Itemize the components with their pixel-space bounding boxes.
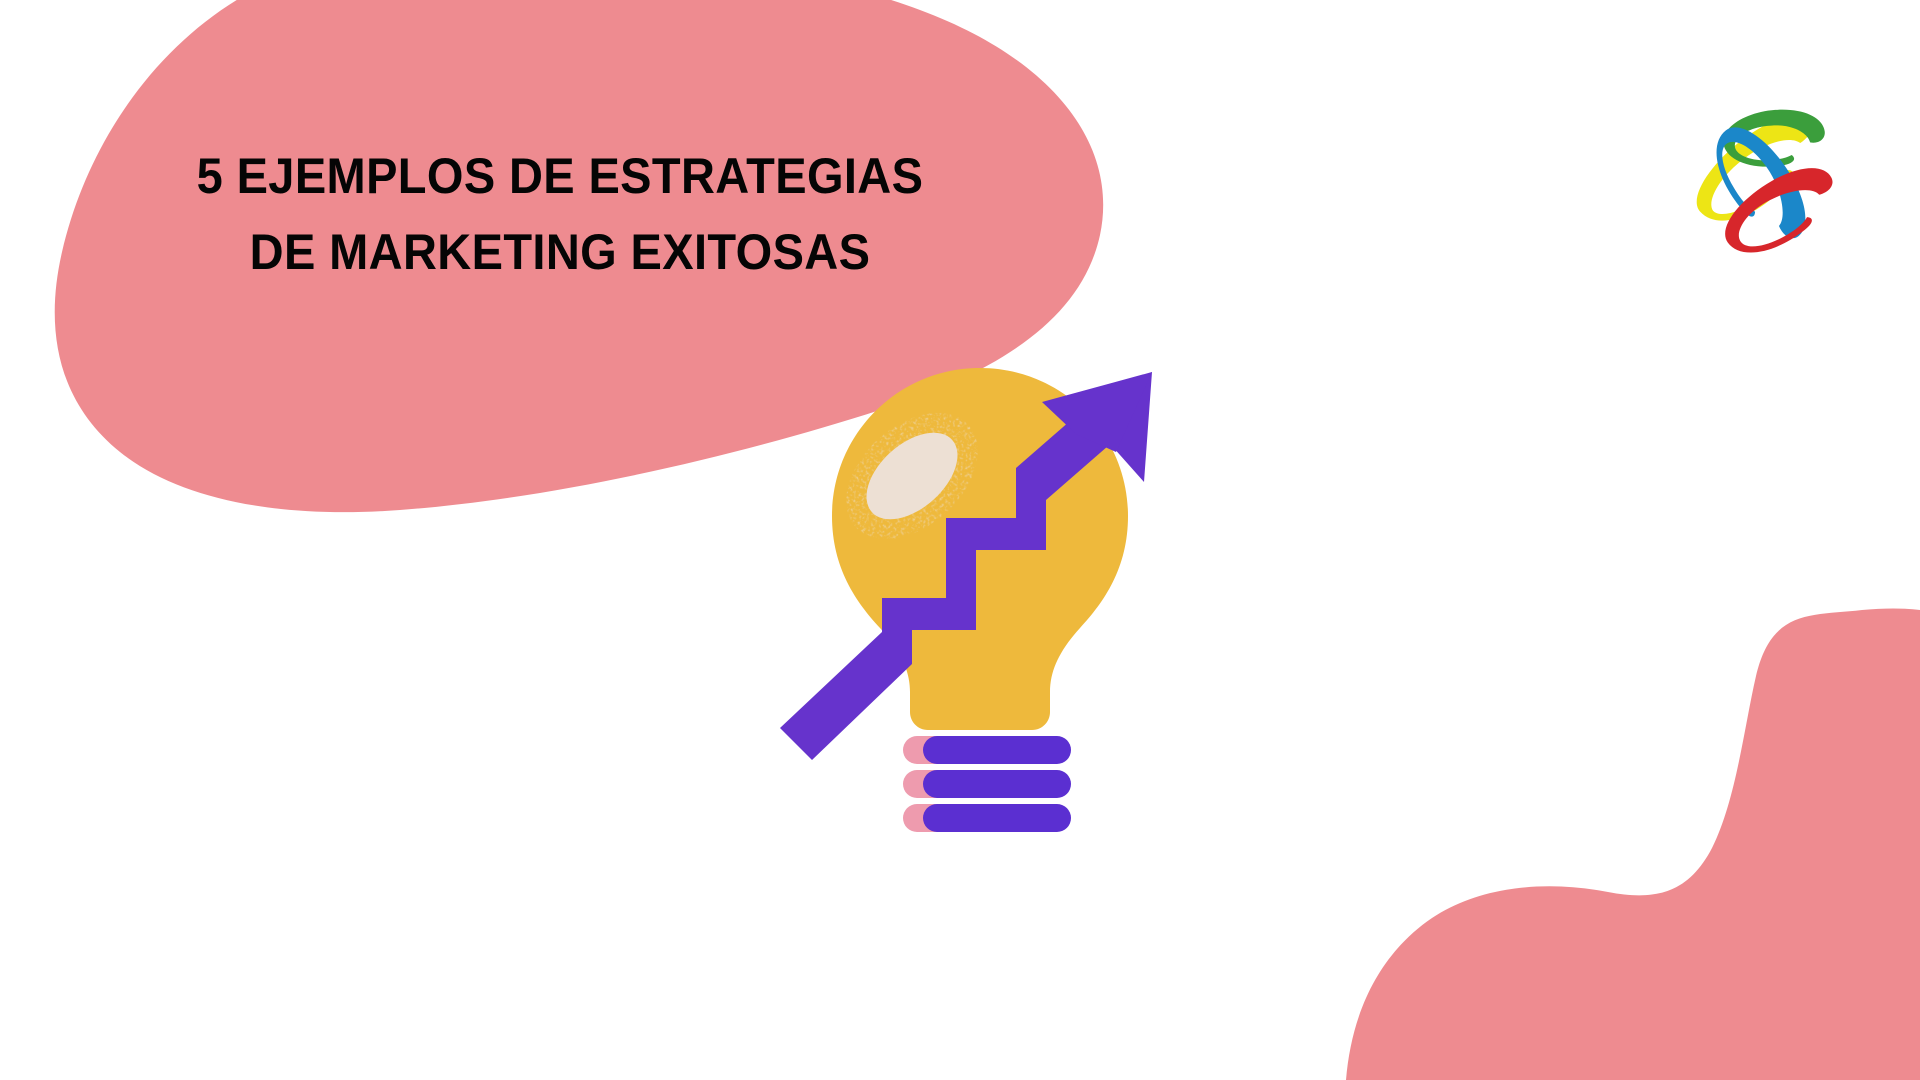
lightbulb-illustration [760, 340, 1200, 880]
pink-wave-blob-bottom-right [1346, 609, 1920, 1080]
brand-logo [1652, 62, 1862, 272]
page-title: 5 EJEMPLOS DE ESTRATEGIAS DE MARKETING E… [130, 138, 990, 290]
lightbulb-base [923, 736, 1071, 832]
title-line-2: DE MARKETING EXITOSAS [156, 214, 964, 290]
title-line-1: 5 EJEMPLOS DE ESTRATEGIAS [156, 138, 964, 214]
slide-canvas: 5 EJEMPLOS DE ESTRATEGIAS DE MARKETING E… [0, 0, 1920, 1080]
